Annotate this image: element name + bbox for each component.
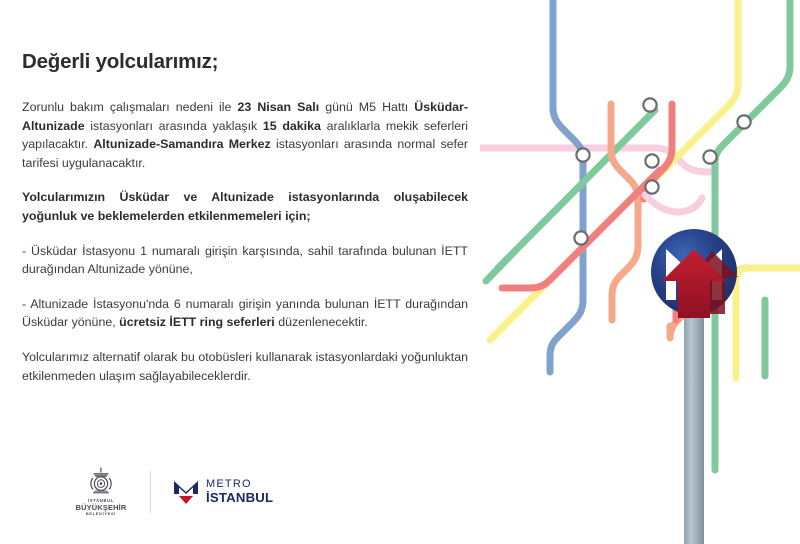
footer-divider: [150, 471, 151, 513]
metro-wordmark: METRO İSTANBUL: [206, 479, 273, 504]
footer-logos: İSTANBUL BÜYÜKŞEHİR BELEDİYESİ METRO İST…: [70, 466, 273, 518]
paragraph-5: Yolcularımız alternatif olarak bu otobüs…: [22, 348, 468, 385]
emphasis-text: 15 dakika: [263, 119, 321, 133]
station-marker: [645, 180, 658, 193]
station-marker: [576, 148, 589, 161]
announcement-body: Zorunlu bakım çalışmaları nedeni ile 23 …: [22, 98, 468, 385]
ibb-logo: İSTANBUL BÜYÜKŞEHİR BELEDİYESİ: [70, 467, 132, 516]
sign-pole: [684, 310, 704, 544]
page-title: Değerli yolcularımız;: [22, 50, 218, 74]
station-marker: [737, 115, 750, 128]
paragraph-1: Zorunlu bakım çalışmaları nedeni ile 23 …: [22, 98, 468, 172]
metro-line-green-diagonal: [498, 110, 655, 268]
station-marker: [643, 98, 656, 111]
body-text: Zorunlu bakım çalışmaları nedeni ile: [22, 100, 238, 114]
announcement-poster: Değerli yolcularımız; Zorunlu bakım çalı…: [0, 0, 800, 544]
station-marker: [703, 150, 716, 163]
station-marker: [645, 154, 658, 167]
metro-map-illustration: [480, 0, 800, 544]
metro-istanbul-logo: METRO İSTANBUL: [171, 477, 273, 507]
metro-line-green-right: [715, 0, 790, 470]
paragraph-4: - Altunizade İstasyonu'nda 6 numaralı gi…: [22, 295, 468, 332]
emphasis-text: Yolcularımızın Üsküdar ve Altunizade ist…: [22, 190, 468, 223]
emphasis-text: Altunizade-Samandıra Merkez: [93, 137, 270, 151]
body-text: - Üsküdar İstasyonu 1 numaralı girişin k…: [22, 244, 468, 277]
metro-line-1: METRO: [206, 479, 273, 490]
body-text: Yolcularımız alternatif olarak bu otobüs…: [22, 350, 468, 383]
ibb-line-3: BELEDİYESİ: [76, 512, 127, 516]
body-text: günü M5 Hattı: [319, 100, 414, 114]
metro-line-2: İSTANBUL: [206, 491, 273, 504]
body-text: istasyonları arasında yaklaşık: [85, 119, 263, 133]
paragraph-2: Yolcularımızın Üsküdar ve Altunizade ist…: [22, 188, 468, 225]
ibb-tulip-emblem-icon: [86, 467, 116, 497]
ibb-wordmark: İSTANBUL BÜYÜKŞEHİR BELEDİYESİ: [76, 499, 127, 516]
metro-istanbul-m-icon: [171, 477, 201, 507]
announcement-content: Değerli yolcularımız; Zorunlu bakım çalı…: [0, 0, 500, 544]
emphasis-text: 23 Nisan Salı: [238, 100, 320, 114]
station-marker: [574, 231, 587, 244]
emphasis-text: ücretsiz İETT ring seferleri: [119, 315, 275, 329]
body-text: düzenlenecektir.: [275, 315, 368, 329]
paragraph-3: - Üsküdar İstasyonu 1 numaralı girişin k…: [22, 242, 468, 279]
metro-line-pink-hook: [645, 195, 702, 212]
